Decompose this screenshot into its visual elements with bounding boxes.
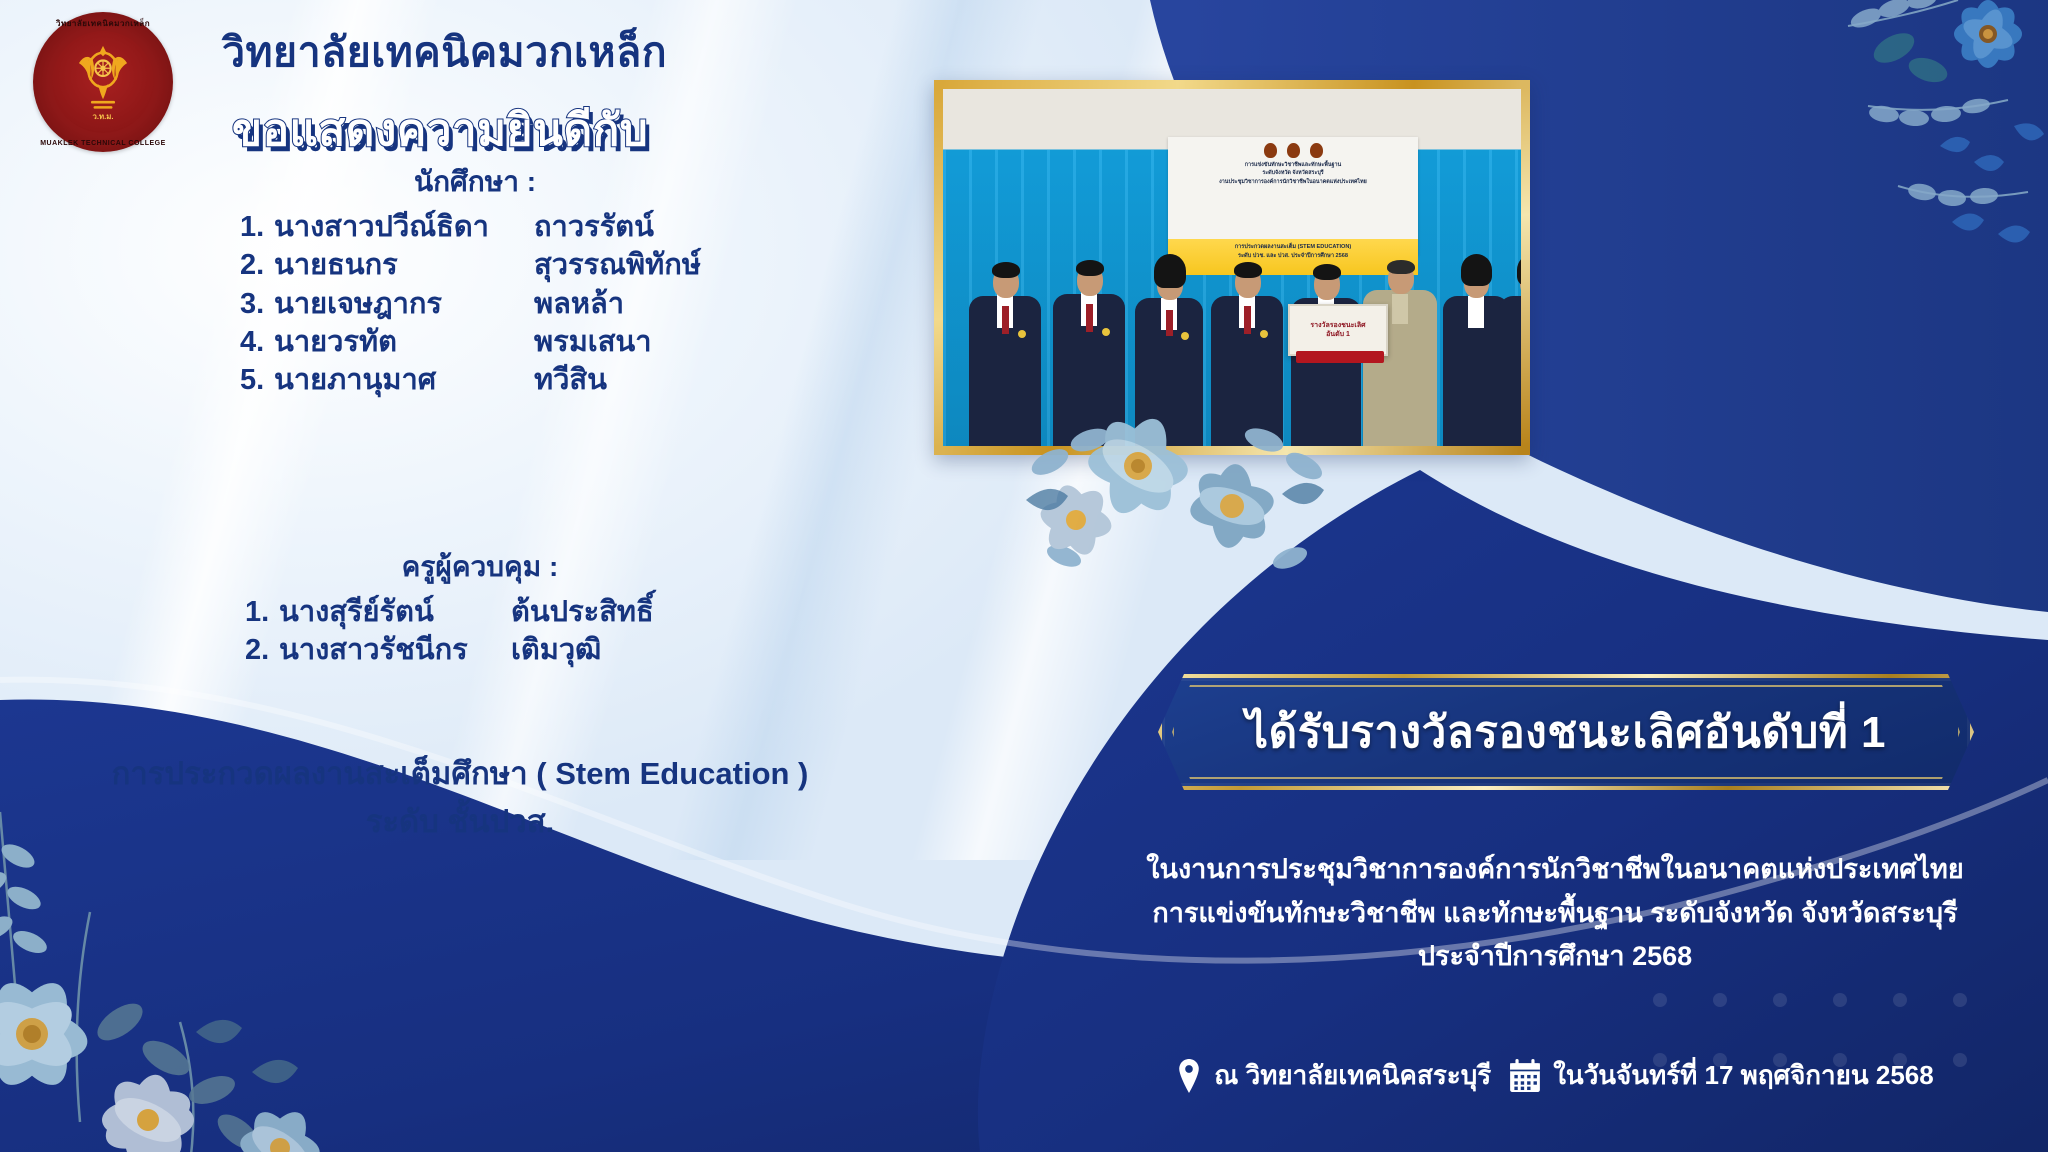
photo-award-card: รางวัลรองชนะเลิศ อันดับ 1 bbox=[1288, 304, 1388, 356]
contest-description: การประกวดผลงานสะเต็มศึกษา ( Stem Educati… bbox=[70, 750, 850, 846]
student-number: 4. bbox=[240, 323, 274, 361]
student-row: 4. นายวรทัต พรมเสนา bbox=[240, 323, 720, 361]
photo-person bbox=[1053, 188, 1125, 446]
congratulation-title: ขอแสดงความยินดีกับ bbox=[232, 95, 648, 165]
college-logo: วิทยาลัยเทคนิคมวกเหล็ก bbox=[33, 12, 173, 152]
college-name: วิทยาลัยเทคนิคมวกเหล็ก bbox=[222, 20, 667, 85]
photo-person bbox=[1211, 190, 1283, 446]
student-last-name: ถาวรรัตน์ bbox=[534, 208, 720, 246]
teacher-row: 1. นางสุรีย์รัตน์ ต้นประสิทธิ์ bbox=[245, 593, 715, 631]
photo-person bbox=[969, 191, 1041, 446]
photo-person bbox=[1135, 208, 1203, 446]
student-last-name: ทวีสิน bbox=[534, 361, 720, 399]
award-ribbon-text: ได้รับรางวัลรองชนะเลิศอันดับที่ 1 bbox=[1158, 674, 1974, 790]
student-first-name: นางสาวปวีณ์ธิดา bbox=[274, 208, 534, 246]
teacher-first-name: นางสุรีย์รัตน์ bbox=[279, 593, 511, 631]
event-description: ในงานการประชุมวิชาการองค์การนักวิชาชีพใน… bbox=[1085, 848, 2025, 979]
teacher-number: 1. bbox=[245, 593, 279, 631]
teacher-last-name: ต้นประสิทธิ์ bbox=[511, 593, 715, 631]
contest-line-1: การประกวดผลงานสะเต็มศึกษา ( Stem Educati… bbox=[70, 750, 850, 798]
student-number: 5. bbox=[240, 361, 274, 399]
poster-canvas: วิทยาลัยเทคนิคมวกเหล็ก bbox=[0, 0, 2048, 1152]
event-line-2: การแข่งขันทักษะวิชาชีพ และทักษะพื้นฐาน ร… bbox=[1085, 892, 2025, 936]
student-last-name: สุวรรณพิทักษ์ bbox=[534, 246, 720, 284]
award-card-line-1: รางวัลรองชนะเลิศ bbox=[1310, 321, 1365, 330]
students-heading: นักศึกษา : bbox=[230, 160, 720, 204]
photo-person bbox=[1499, 200, 1521, 446]
footer-date-text: ในวันจันทร์ที่ 17 พฤศจิกายน 2568 bbox=[1553, 1055, 1934, 1096]
teacher-first-name: นางสาวรัชนีกร bbox=[279, 631, 511, 669]
map-pin-icon bbox=[1176, 1059, 1202, 1093]
student-first-name: นายวรทัต bbox=[274, 323, 534, 361]
calendar-icon bbox=[1509, 1059, 1541, 1093]
banner-line-1: การแข่งขันทักษะวิชาชีพและทักษะพื้นฐาน bbox=[1172, 161, 1414, 169]
teacher-number: 2. bbox=[245, 631, 279, 669]
student-row: 3. นายเจษฎากร พลหล้า bbox=[240, 285, 720, 323]
svg-text:ว.ท.ม.: ว.ท.ม. bbox=[93, 112, 114, 121]
banner-line-2: ระดับจังหวัด จังหวัดสระบุรี bbox=[1172, 169, 1414, 177]
student-first-name: นายภานุมาศ bbox=[274, 361, 534, 399]
logo-ring-bottom-text: MUAKLEK TECHNICAL COLLEGE bbox=[33, 140, 173, 147]
student-first-name: นายธนกร bbox=[274, 246, 534, 284]
teacher-row: 2. นางสาวรัชนีกร เติมวุฒิ bbox=[245, 631, 715, 669]
footer-location-group: ณ วิทยาลัยเทคนิคสระบุรี bbox=[1176, 1055, 1491, 1096]
event-line-1: ในงานการประชุมวิชาการองค์การนักวิชาชีพใน… bbox=[1085, 848, 2025, 892]
award-photo-frame: การแข่งขันทักษะวิชาชีพและทักษะพื้นฐาน ระ… bbox=[934, 80, 1530, 455]
banner-emblems bbox=[1172, 143, 1414, 158]
footer-meta: ณ วิทยาลัยเทคนิคสระบุรี bbox=[1085, 1055, 2025, 1096]
teachers-heading: ครูผู้ควบคุม : bbox=[245, 545, 715, 589]
student-row: 1. นางสาวปวีณ์ธิดา ถาวรรัตน์ bbox=[240, 208, 720, 246]
floral-decoration-top-right bbox=[1698, 0, 2048, 286]
student-first-name: นายเจษฎากร bbox=[274, 285, 534, 323]
student-number: 3. bbox=[240, 285, 274, 323]
student-last-name: พรมเสนา bbox=[534, 323, 720, 361]
student-last-name: พลหล้า bbox=[534, 285, 720, 323]
student-number: 1. bbox=[240, 208, 274, 246]
footer-location-text: ณ วิทยาลัยเทคนิคสระบุรี bbox=[1214, 1055, 1491, 1096]
student-row: 5. นายภานุมาศ ทวีสิน bbox=[240, 361, 720, 399]
students-block: นักศึกษา : 1. นางสาวปวีณ์ธิดา ถาวรรัตน์ … bbox=[240, 160, 720, 399]
footer-date-group: ในวันจันทร์ที่ 17 พฤศจิกายน 2568 bbox=[1509, 1055, 1934, 1096]
logo-ring-top-text: วิทยาลัยเทคนิคมวกเหล็ก bbox=[33, 17, 173, 30]
teachers-block: ครูผู้ควบคุม : 1. นางสุรีย์รัตน์ ต้นประส… bbox=[245, 545, 715, 670]
logo-seal-inner: ว.ท.ม. bbox=[52, 31, 154, 133]
teacher-last-name: เติมวุฒิ bbox=[511, 631, 715, 669]
award-card-line-2: อันดับ 1 bbox=[1326, 330, 1350, 339]
event-line-3: ประจำปีการศึกษา 2568 bbox=[1085, 935, 2025, 979]
student-row: 2. นายธนกร สุวรรณพิทักษ์ bbox=[240, 246, 720, 284]
student-number: 2. bbox=[240, 246, 274, 284]
award-photo: การแข่งขันทักษะวิชาชีพและทักษะพื้นฐาน ระ… bbox=[943, 89, 1521, 446]
logo-emblem-icon: ว.ท.ม. bbox=[60, 39, 146, 125]
award-ribbon: ได้รับรางวัลรองชนะเลิศอันดับที่ 1 bbox=[1158, 674, 1974, 790]
contest-line-2: ระดับ ชั้นปวส. bbox=[70, 798, 850, 846]
